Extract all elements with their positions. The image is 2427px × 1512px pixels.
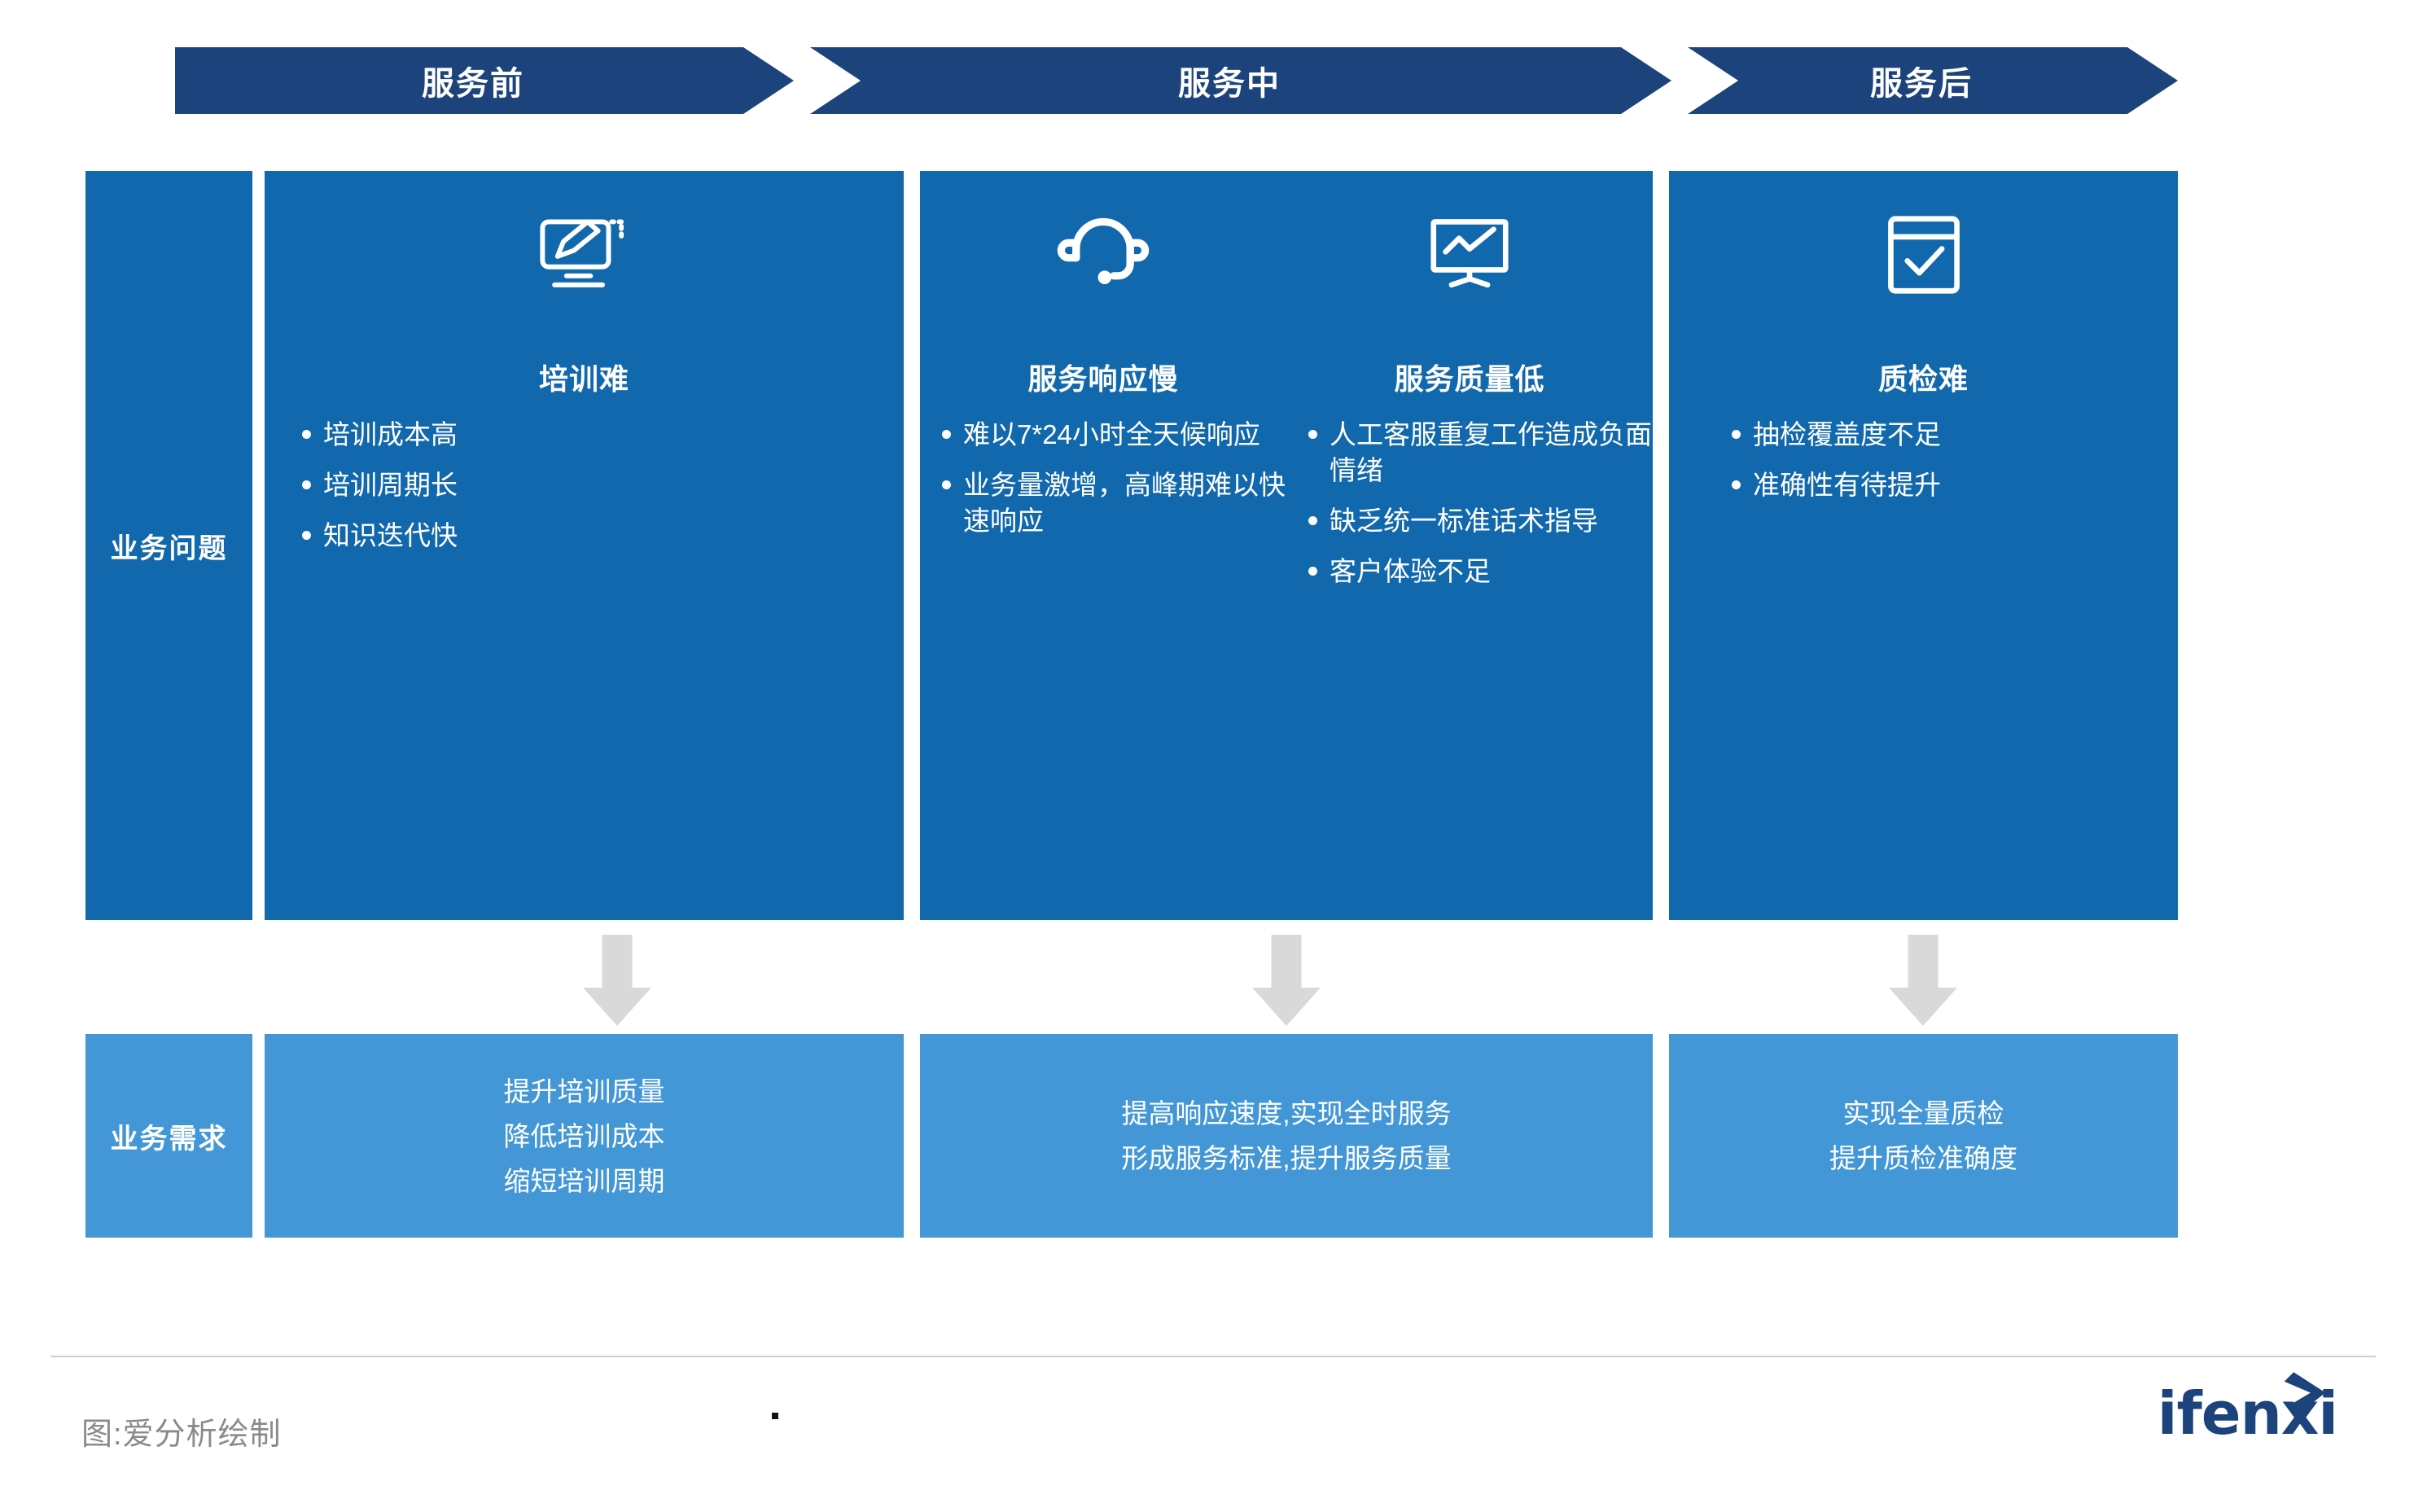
needs-panel-post-service: 实现全量质检 提升质检准确度	[1669, 1034, 2178, 1238]
problem-card-quality-inspection: 质检难 抽检覆盖度不足 准确性有待提升	[1669, 171, 2178, 920]
list-item: 缺乏统一标准话术指导	[1302, 503, 1598, 539]
problem-panel-during-service: 服务响应慢 难以7*24小时全天候响应 业务量激增，高峰期难以快速响应 服务质量…	[920, 171, 1653, 920]
bullet-list: 培训成本高 培训周期长 知识迭代快	[250, 410, 918, 561]
needs-line: 提高响应速度,实现全时服务	[1121, 1100, 1451, 1127]
bullet-list: 人工客服重复工作造成负面情绪 缺乏统一标准话术指导 客户体验不足	[1287, 410, 1652, 597]
list-item: 知识迭代快	[296, 518, 458, 554]
diagram-canvas: 服务前 服务中 服务后 业务问题 业务需求	[0, 0, 2427, 1512]
needs-panel-during-service: 提高响应速度,实现全时服务 形成服务标准,提升服务质量	[920, 1034, 1653, 1238]
list-item: 培训成本高	[296, 417, 458, 453]
needs-line: 降低培训成本	[504, 1123, 665, 1150]
needs-line: 形成服务标准,提升服务质量	[1121, 1145, 1451, 1172]
row-label-business-needs: 业务需求	[85, 1034, 252, 1238]
problem-card-slow-response: 服务响应慢 难以7*24小时全天候响应 业务量激增，高峰期难以快速响应	[920, 171, 1286, 920]
phase-header-during-service: 服务中	[810, 47, 1671, 114]
footer-caption: 图:爱分析绘制	[81, 1409, 282, 1453]
list-item: 培训周期长	[296, 467, 458, 503]
phase-header-label: 服务前	[422, 57, 524, 104]
problem-card-training: 培训难 培训成本高 培训周期长 知识迭代快	[265, 171, 904, 920]
needs-line: 提升质检准确度	[1829, 1145, 2017, 1172]
bullet-list: 抽检覆盖度不足 准确性有待提升	[1629, 410, 2218, 511]
list-item: 业务量激增，高峰期难以快速响应	[935, 467, 1286, 539]
needs-line: 缩短培训周期	[504, 1168, 665, 1194]
problem-panel-pre-service: 培训难 培训成本高 培训周期长 知识迭代快	[265, 171, 904, 920]
row-label-text: 业务问题	[111, 526, 228, 566]
phase-header-label: 服务后	[1870, 57, 1973, 104]
ifenxi-logo: ifenxi	[2158, 1384, 2337, 1443]
row-label-business-problems: 业务问题	[85, 171, 252, 920]
logo-arrow-icon	[2267, 1365, 2342, 1440]
needs-line: 提升培训质量	[504, 1078, 665, 1105]
clipboard-check-icon	[1876, 204, 1972, 305]
problem-panel-post-service: 质检难 抽检覆盖度不足 准确性有待提升	[1669, 171, 2178, 920]
list-item: 客户体验不足	[1302, 554, 1491, 589]
problem-card-low-quality: 服务质量低 人工客服重复工作造成负面情绪 缺乏统一标准话术指导 客户体验不足	[1286, 171, 1653, 920]
needs-panel-pre-service: 提升培训质量 降低培训成本 缩短培训周期	[265, 1034, 904, 1238]
headset-icon	[1055, 204, 1151, 305]
phase-header-pre-service: 服务前	[175, 47, 794, 114]
card-title: 服务质量低	[1394, 356, 1544, 398]
down-arrow-icon	[1889, 935, 1957, 1026]
card-title: 质检难	[1878, 356, 1969, 398]
bullet-list: 难以7*24小时全天候响应 业务量激增，高峰期难以快速响应	[921, 410, 1286, 546]
phase-header-label: 服务中	[1178, 57, 1281, 104]
monitor-pen-icon	[537, 204, 633, 305]
row-label-text: 业务需求	[111, 1116, 228, 1156]
down-arrow-icon	[1252, 935, 1321, 1026]
card-title: 培训难	[539, 356, 629, 398]
phase-header-post-service: 服务后	[1688, 47, 2178, 114]
list-item: 准确性有待提升	[1725, 467, 1941, 503]
footer-divider	[50, 1356, 2376, 1357]
down-arrow-icon	[583, 935, 651, 1026]
card-title: 服务响应慢	[1027, 356, 1178, 398]
list-item: 人工客服重复工作造成负面情绪	[1302, 417, 1652, 489]
list-item: 难以7*24小时全天候响应	[935, 417, 1260, 453]
stray-dot-marker	[772, 1413, 778, 1419]
needs-line: 实现全量质检	[1843, 1100, 2004, 1127]
presentation-chart-icon	[1422, 204, 1518, 305]
list-item: 抽检覆盖度不足	[1725, 417, 1941, 453]
